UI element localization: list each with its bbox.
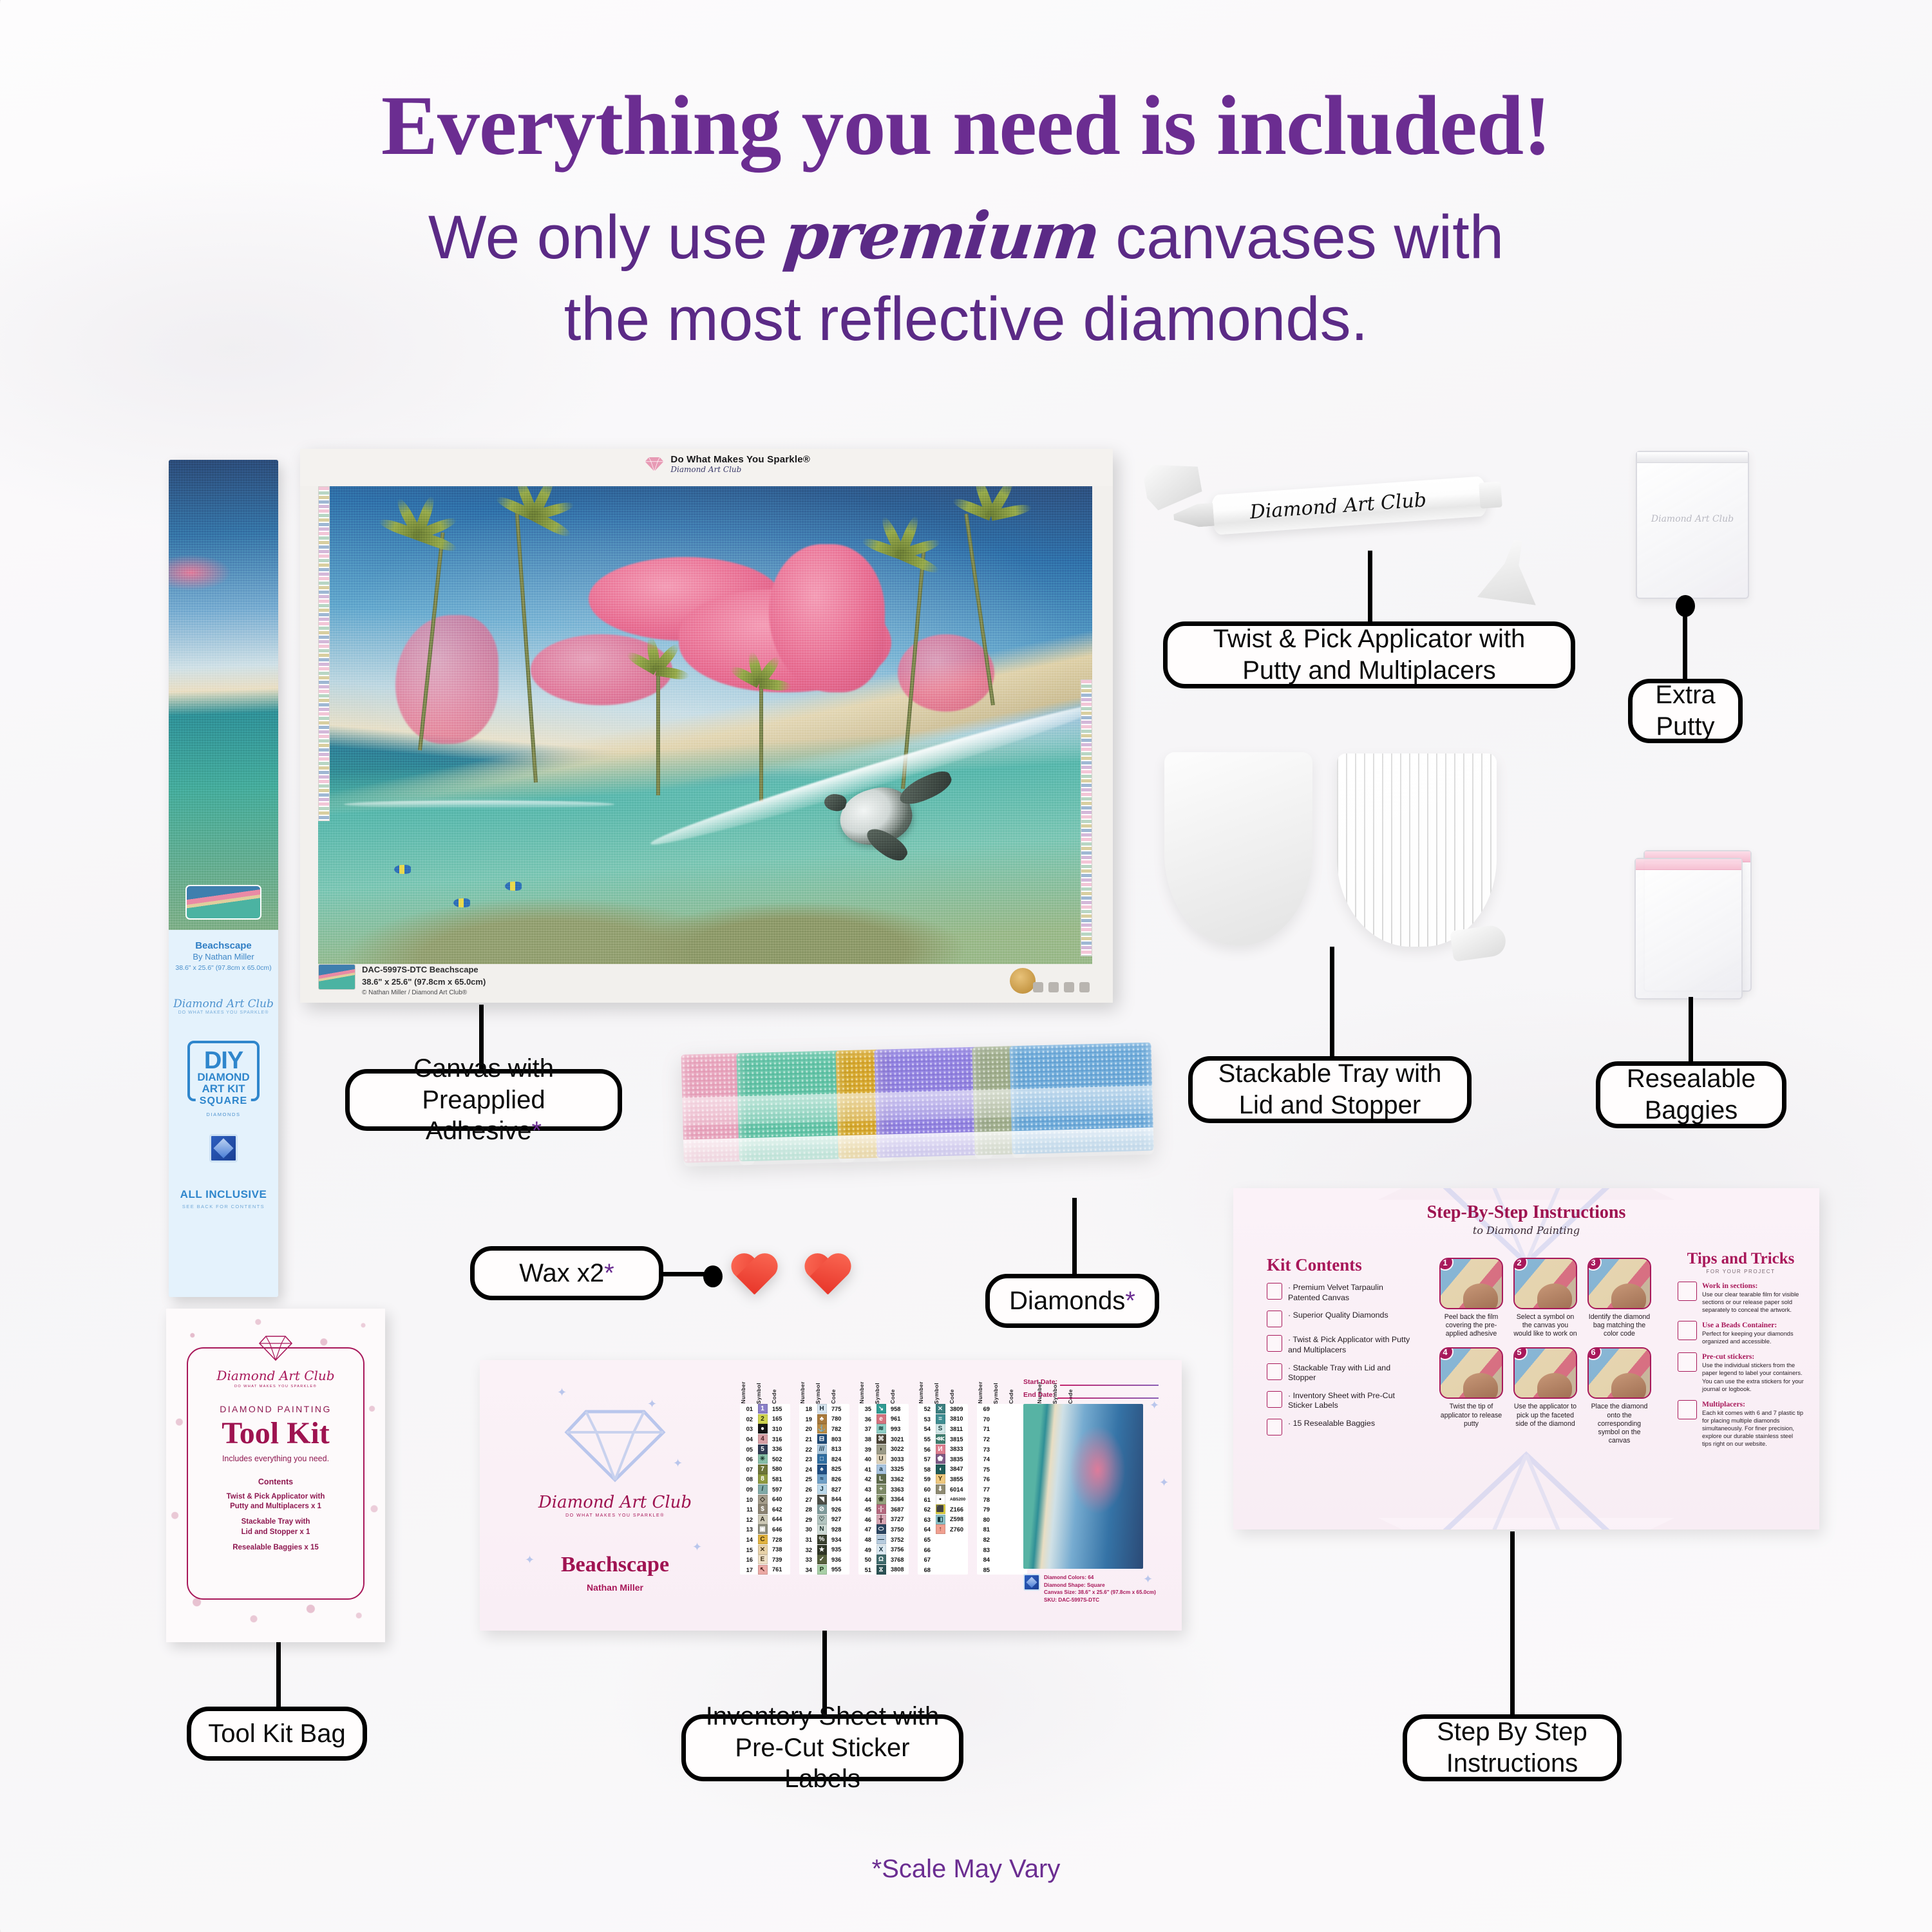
extra-putty-baggie[interactable]: Diamond Art Club: [1636, 451, 1749, 599]
column-header-number: Number: [799, 1381, 813, 1404]
canvas-footer-thumbnail: [318, 964, 355, 990]
cell-symbol: ⊟: [815, 1434, 829, 1444]
table-row: 51⧖3808: [858, 1565, 909, 1575]
table-row: 03●310: [740, 1424, 790, 1434]
asterisk-marker: *: [531, 1117, 542, 1145]
cell-number: 83: [977, 1546, 991, 1553]
cell-symbol: C: [755, 1535, 770, 1544]
cell-number: 76: [977, 1475, 991, 1482]
cell-number: 43: [858, 1486, 873, 1493]
table-row: 54S3811: [918, 1424, 968, 1434]
cell-number: 63: [918, 1516, 932, 1523]
callout-line-2: Pre-Cut Sticker Labels: [735, 1734, 909, 1794]
callout-stackable-tray[interactable]: Stackable Tray with Lid and Stopper: [1188, 1056, 1472, 1123]
fish: [453, 898, 470, 907]
step-caption: Place the diamond onto the corresponding…: [1587, 1403, 1651, 1445]
column-header-symbol: Symbol: [992, 1383, 1007, 1404]
cell-code: AB5200: [949, 1497, 968, 1502]
cell-code: 3809: [949, 1406, 968, 1412]
start-date-label: Start Date:: [1023, 1378, 1057, 1386]
cell-code: 761: [771, 1566, 790, 1573]
table-row: 37≋993: [858, 1424, 909, 1434]
table-row: 68: [918, 1565, 968, 1575]
cell-number: 29: [799, 1516, 813, 1523]
meta-diamond-shape: Diamond Shape: Square: [1044, 1582, 1156, 1589]
symbol-swatch: H: [817, 1404, 827, 1414]
column-header-symbol: Symbol: [874, 1383, 888, 1404]
table-row: 28⊘926: [799, 1504, 849, 1515]
sparkle-icon: ✦: [1159, 1476, 1169, 1490]
cell-number: 66: [918, 1546, 932, 1553]
inventory-brand-tagline: DO WHAT MAKES YOU SPARKLE®: [506, 1513, 724, 1518]
table-row: 33✓936: [799, 1555, 849, 1565]
social-icon: [1064, 982, 1074, 992]
cell-number: 84: [977, 1556, 991, 1563]
callout-diamonds-label: Diamonds*: [1009, 1285, 1135, 1317]
instruction-step: 2Select a symbol on the canvas you would…: [1513, 1258, 1577, 1338]
symbol-swatch: /: [758, 1484, 768, 1494]
cell-symbol: ⬭: [874, 1524, 888, 1534]
kit-content-item: · Inventory Sheet with Pre-Cut Sticker L…: [1267, 1391, 1415, 1411]
inventory-sheet-icon: [1267, 1391, 1282, 1408]
symbol-swatch: ◥: [817, 1495, 827, 1504]
callout-line-1: Resealable: [1627, 1065, 1756, 1093]
twist-pick-applicator[interactable]: Diamond Art Club: [1209, 476, 1488, 535]
canvas-artwork: [318, 486, 1092, 964]
cell-number: 41: [858, 1466, 873, 1473]
kit-content-label: · 15 Resealable Baggies: [1288, 1419, 1375, 1429]
leader-dot-wax: [703, 1265, 723, 1287]
see-back-label: SEE BACK FOR CONTENTS: [169, 1204, 278, 1209]
canvas-brand-header: Do What Makes You Sparkle® Diamond Art C…: [643, 454, 810, 474]
cell-code: 3022: [889, 1446, 909, 1452]
symbol-swatch: $: [758, 1504, 768, 1514]
cell-number: 49: [858, 1546, 873, 1553]
cell-symbol: 4: [755, 1434, 770, 1444]
instructions-subtitle: to Diamond Painting: [1233, 1224, 1819, 1236]
cell-code: 3768: [889, 1557, 909, 1563]
sparkle-icon: ✦: [692, 1540, 702, 1554]
table-row: 52⨯3809: [918, 1404, 968, 1414]
symbol-swatch: ❀: [876, 1495, 886, 1504]
sparkle-icon: ✦: [1150, 1399, 1159, 1412]
canvas-footer-text: DAC-5997S-DTC Beachscape 38.6" x 25.6" (…: [362, 964, 486, 998]
cell-code: 3756: [889, 1546, 909, 1553]
applicator-cap: [1141, 457, 1204, 512]
tips-subtitle: FOR YOUR PROJECT: [1678, 1269, 1804, 1274]
subtitle-script-word: premium: [780, 193, 1103, 278]
canvas-tube-package[interactable]: Beachscape By Nathan Miller 38.6" x 25.6…: [169, 460, 278, 1297]
cell-number: 26: [799, 1486, 813, 1493]
callout-tool-kit-bag[interactable]: Tool Kit Bag: [187, 1707, 367, 1761]
callout-line-2: Putty: [1656, 712, 1714, 741]
table-row: 17↖761: [740, 1565, 790, 1575]
cell-number: 12: [740, 1516, 754, 1523]
callout-line-1: Extra: [1655, 681, 1715, 709]
table-row: 088581: [740, 1474, 790, 1484]
cell-number: 46: [858, 1516, 873, 1523]
cell-code: 844: [830, 1496, 849, 1502]
cell-symbol: H: [815, 1404, 829, 1414]
cell-symbol: —: [874, 1535, 888, 1544]
end-date-field[interactable]: End Date:: [1023, 1391, 1159, 1399]
kit-content-label: · Inventory Sheet with Pre-Cut Sticker L…: [1288, 1391, 1415, 1411]
cell-code: 926: [830, 1506, 849, 1513]
symbol-swatch: ⌘: [876, 1434, 886, 1444]
cell-number: 85: [977, 1566, 991, 1573]
symbol-swatch: C: [758, 1535, 768, 1544]
cell-number: 77: [977, 1486, 991, 1493]
cell-code: 927: [830, 1516, 849, 1522]
cell-number: 35: [858, 1405, 873, 1412]
cell-symbol: ⚓: [815, 1424, 829, 1434]
diy-line-3: ART KIT: [193, 1083, 254, 1095]
leader-line-toolkit: [276, 1642, 281, 1707]
tip-heading: Pre-cut stickers:: [1702, 1352, 1804, 1361]
wax-heart[interactable]: [802, 1255, 853, 1301]
cell-number: 06: [740, 1455, 754, 1463]
multiplacer-tip: [1477, 536, 1544, 605]
callout-inventory-sheet[interactable]: Inventory Sheet with Pre-Cut Sticker Lab…: [681, 1714, 963, 1781]
symbol-swatch: 2: [758, 1414, 768, 1424]
symbol-swatch: 1: [758, 1404, 768, 1414]
symbol-swatch: e: [876, 1414, 886, 1424]
symbol-swatch: +: [876, 1484, 886, 1494]
cell-symbol: ♣: [815, 1414, 829, 1424]
cell-symbol: A: [755, 1515, 770, 1524]
cell-code: Z760: [949, 1526, 968, 1533]
table-row: 61▪AB5200: [918, 1494, 968, 1504]
palm-tree: [756, 679, 762, 802]
cell-number: 48: [858, 1536, 873, 1543]
cell-symbol: $: [755, 1504, 770, 1514]
column-header-number: Number: [740, 1381, 754, 1404]
cell-code: 782: [830, 1426, 849, 1432]
cell-code: 6014: [949, 1486, 968, 1493]
cell-symbol: 8: [755, 1474, 770, 1484]
start-date-line[interactable]: [1060, 1385, 1159, 1386]
cell-number: 81: [977, 1526, 991, 1533]
cell-code: 3033: [889, 1456, 909, 1463]
callout-diamonds[interactable]: Diamonds*: [985, 1274, 1159, 1328]
symbol-swatch: ⬟: [936, 1454, 945, 1464]
cell-code: 780: [830, 1416, 849, 1422]
callout-applicator[interactable]: Twist & Pick Applicator with Putty and M…: [1163, 621, 1575, 688]
cell-number: 62: [918, 1506, 932, 1513]
canvas-legend-right: [1081, 679, 1092, 956]
cell-number: 58: [918, 1466, 932, 1473]
symbol-swatch: ↑: [936, 1524, 945, 1534]
symbol-swatch: X: [876, 1545, 886, 1555]
diamond-bags-group[interactable]: [681, 1042, 1161, 1183]
table-row: 75: [977, 1464, 1027, 1475]
cell-number: 25: [799, 1475, 813, 1482]
table-row: 78: [977, 1494, 1027, 1504]
cell-number: 05: [740, 1446, 754, 1453]
canvas-legend-left: [318, 486, 330, 821]
cell-symbol: ✕: [755, 1545, 770, 1555]
table-row: 29♡927: [799, 1515, 849, 1525]
cell-symbol: E: [755, 1555, 770, 1564]
cell-number: 08: [740, 1475, 754, 1482]
inventory-artwork-photo: [1023, 1404, 1143, 1569]
diamond-icon: [257, 1334, 294, 1361]
page-subtitle: We only use premium canvases with the mo…: [0, 193, 1932, 360]
tip-item: Pre-cut stickers:Use the individual stic…: [1678, 1352, 1804, 1392]
callout-extra-putty[interactable]: Extra Putty: [1628, 679, 1743, 743]
table-row: 60⬇6014: [918, 1484, 968, 1495]
tip-item: Multiplacers:Each kit comes with 6 and 7…: [1678, 1400, 1804, 1448]
instruction-step: 1Peel back the film covering the pre-app…: [1439, 1258, 1503, 1338]
symbol-swatch: E: [758, 1555, 768, 1564]
diamond-bag: [1009, 1043, 1153, 1155]
symbol-swatch: ◇: [758, 1495, 768, 1504]
step-caption: Twist the tip of applicator to release p…: [1439, 1403, 1503, 1428]
inventory-rows: 6970717273747576777879808182838485: [977, 1404, 1027, 1575]
cell-symbol: 5: [755, 1444, 770, 1454]
table-row: 53=3810: [918, 1414, 968, 1425]
toolkit-content-line: Resealable Baggies x 15: [196, 1543, 355, 1553]
cell-number: 54: [918, 1425, 932, 1432]
table-row: 46╁3727: [858, 1515, 909, 1525]
cell-code: 827: [830, 1486, 849, 1493]
cell-number: 11: [740, 1506, 754, 1513]
cell-number: 21: [799, 1435, 813, 1443]
end-date-line[interactable]: [1057, 1397, 1159, 1399]
cell-symbol: U: [874, 1454, 888, 1464]
cell-symbol: +: [874, 1484, 888, 1494]
table-row: 38⌘3021: [858, 1434, 909, 1444]
cell-code: 646: [771, 1526, 790, 1533]
inventory-column-group: NumberSymbolCode35↘95836e96137≋99338⌘302…: [858, 1369, 909, 1575]
palm-tree: [898, 551, 904, 789]
baggie-icon: [1267, 1419, 1282, 1435]
callout-resealable-baggies[interactable]: Resealable Baggies: [1596, 1061, 1786, 1128]
callout-step-by-step[interactable]: Step By Step Instructions: [1403, 1714, 1622, 1781]
callout-line-2: Preapplied Adhesive: [422, 1086, 545, 1146]
table-row: 43+3363: [858, 1484, 909, 1495]
cell-code: 935: [830, 1546, 849, 1553]
sparkle-icon: ✦: [557, 1386, 567, 1399]
cell-symbol: ⨯: [933, 1404, 947, 1414]
leader-line-instructions: [1510, 1531, 1515, 1717]
symbol-swatch: Ω: [876, 1555, 886, 1564]
symbol-swatch: ↖: [758, 1565, 768, 1575]
cell-number: 57: [918, 1455, 932, 1463]
canvas-footer-copyright: © Nathan Miller / Diamond Art Club®: [362, 989, 486, 998]
cell-number: 18: [799, 1405, 813, 1412]
table-row: 58◖3847: [918, 1464, 968, 1475]
inventory-sheet[interactable]: Diamond Art Club DO WHAT MAKES YOU SPARK…: [480, 1360, 1182, 1631]
instructions-title: Step-By-Step Instructions: [1233, 1202, 1819, 1223]
table-row: 36e961: [858, 1414, 909, 1425]
table-row: 41a3325: [858, 1464, 909, 1475]
cell-code: 155: [771, 1406, 790, 1412]
inventory-column-headers: NumberSymbolCode: [799, 1369, 849, 1404]
cell-symbol: %: [815, 1535, 829, 1544]
cell-number: 59: [918, 1475, 932, 1482]
diamond-icon: [560, 1406, 670, 1484]
tube-thumbnail: [185, 885, 261, 920]
inventory-left-panel: Diamond Art Club DO WHAT MAKES YOU SPARK…: [506, 1383, 724, 1593]
table-row: 10◇640: [740, 1494, 790, 1504]
subtitle-part-1: We only use: [428, 203, 768, 272]
cell-number: 55: [918, 1435, 932, 1443]
wave-foam: [344, 800, 614, 808]
cell-number: 68: [918, 1566, 932, 1573]
cell-code: 581: [771, 1476, 790, 1482]
symbol-swatch: a: [876, 1464, 886, 1474]
symbol-swatch: ●: [758, 1424, 768, 1434]
symbol-swatch: ≋: [876, 1424, 886, 1434]
meta-canvas-size: Canvas Size: 38.6" x 25.6" (97.8cm x 65.…: [1044, 1589, 1156, 1596]
table-row: 06✳502: [740, 1454, 790, 1464]
table-row: 57⬟3835: [918, 1454, 968, 1464]
table-row: 70: [977, 1414, 1027, 1425]
cell-code: 775: [830, 1406, 849, 1412]
instruction-step: 4Twist the tip of applicator to release …: [1439, 1347, 1503, 1445]
callout-line-1: Step By Step: [1437, 1718, 1587, 1746]
cell-number: 47: [858, 1526, 873, 1533]
toolkit-eyebrow: DIAMOND PAINTING: [196, 1404, 355, 1414]
kit-content-label: · Stackable Tray with Lid and Stopper: [1288, 1363, 1415, 1383]
cell-symbol: ⋅|⋅: [874, 1504, 888, 1514]
cell-number: 51: [858, 1566, 873, 1573]
resealable-baggie[interactable]: [1634, 858, 1743, 999]
cell-number: 16: [740, 1556, 754, 1563]
table-row: 84: [977, 1555, 1027, 1565]
cell-number: 22: [799, 1446, 813, 1453]
sticker-icon: [1678, 1352, 1697, 1372]
cell-symbol: ▣: [755, 1524, 770, 1534]
table-row: 44❀3364: [858, 1494, 909, 1504]
multiplacer-icon: [1678, 1400, 1697, 1419]
table-row: 63◧Z598: [918, 1515, 968, 1525]
canvas-footer: DAC-5997S-DTC Beachscape 38.6" x 25.6" (…: [318, 964, 1027, 998]
symbol-swatch: N: [817, 1524, 827, 1534]
callout-wax-label: Wax x2*: [519, 1258, 614, 1289]
tray-stopper: [1450, 923, 1508, 961]
stackable-tray-lid[interactable]: [1164, 752, 1312, 945]
cell-code: 738: [771, 1546, 790, 1553]
stackable-tray-body[interactable]: [1337, 753, 1497, 947]
cell-code: 644: [771, 1516, 790, 1522]
main-canvas[interactable]: Do What Makes You Sparkle® Diamond Art C…: [300, 449, 1113, 1003]
cell-number: 75: [977, 1466, 991, 1473]
cell-code: 813: [830, 1446, 849, 1452]
table-row: 40U3033: [858, 1454, 909, 1464]
callout-step-by-step-label: Step By Step Instructions: [1437, 1716, 1587, 1779]
cell-code: 3362: [889, 1476, 909, 1482]
cell-code: 642: [771, 1506, 790, 1513]
tube-brand-logo: Diamond Art Club: [169, 998, 278, 1010]
table-row: 66: [918, 1544, 968, 1555]
cell-code: 824: [830, 1456, 849, 1463]
table-row: 83: [977, 1544, 1027, 1555]
callout-canvas[interactable]: Canvas with Preapplied Adhesive*: [345, 1069, 622, 1131]
cell-symbol: ♠: [815, 1464, 829, 1474]
symbol-swatch: 4: [758, 1434, 768, 1444]
cell-number: 23: [799, 1455, 813, 1463]
tool-kit-bag[interactable]: Diamond Art Club DO WHAT MAKES YOU SPARK…: [166, 1309, 385, 1642]
table-row: 81: [977, 1524, 1027, 1535]
cell-symbol: ❀: [874, 1495, 888, 1504]
canvas-icon: [1267, 1283, 1282, 1300]
start-date-field[interactable]: Start Date:: [1023, 1378, 1159, 1386]
inventory-column-group: NumberSymbolCode01115502216503●310044316…: [740, 1369, 790, 1575]
cell-code: 336: [771, 1446, 790, 1452]
palm-tree: [988, 512, 994, 705]
symbol-swatch: ★: [817, 1545, 827, 1555]
kit-contents-heading: Kit Contents: [1267, 1255, 1415, 1275]
symbol-swatch: □: [817, 1454, 827, 1464]
step-by-step-instructions[interactable]: Step-By-Step Instructions to Diamond Pai…: [1233, 1188, 1819, 1529]
table-row: 14C728: [740, 1535, 790, 1545]
cell-number: 56: [918, 1446, 932, 1453]
cell-number: 36: [858, 1416, 873, 1423]
callout-line-1: Canvas with: [413, 1054, 554, 1083]
symbol-swatch: Y: [936, 1474, 945, 1484]
callout-wax[interactable]: Wax x2*: [470, 1246, 663, 1300]
kit-content-label: · Premium Velvet Tarpaulin Patented Canv…: [1288, 1283, 1415, 1303]
wax-heart[interactable]: [729, 1255, 779, 1301]
kit-content-label: · Twist & Pick Applicator with Putty and…: [1288, 1335, 1415, 1355]
baggie-brand-text: Diamond Art Club: [1651, 514, 1734, 524]
toolkit-tagline: Includes everything you need.: [196, 1454, 355, 1463]
callout-line-1: Inventory Sheet with: [706, 1702, 939, 1730]
quality-seal-icon: [1010, 968, 1036, 994]
table-row: 22///813: [799, 1444, 849, 1454]
symbol-swatch: ⚓: [817, 1424, 827, 1434]
table-row: 65: [918, 1535, 968, 1545]
instruction-step: 6Place the diamond onto the correspondin…: [1587, 1347, 1651, 1445]
social-icon: [1048, 982, 1059, 992]
symbol-swatch: %: [817, 1535, 827, 1544]
inventory-right-panel: Start Date: End Date: Diamond Colors: 64…: [1023, 1378, 1159, 1604]
symbol-swatch: ⋘: [936, 1434, 945, 1444]
table-row: 74: [977, 1454, 1027, 1464]
cell-number: 52: [918, 1405, 932, 1412]
instruction-step: 3Identify the diamond bag matching the c…: [1587, 1258, 1651, 1338]
table-row: 59Y3855: [918, 1474, 968, 1484]
kit-contents-column: Kit Contents · Premium Velvet Tarpaulin …: [1267, 1255, 1415, 1435]
symbol-swatch: P: [817, 1565, 827, 1575]
cell-symbol: ↖: [755, 1565, 770, 1575]
table-row: 20⚓782: [799, 1424, 849, 1434]
leader-line-diamonds: [1072, 1198, 1077, 1274]
cell-code: 640: [771, 1496, 790, 1502]
table-row: 24♠825: [799, 1464, 849, 1475]
diamonds-icon: [1267, 1311, 1282, 1327]
cell-symbol: 7: [755, 1464, 770, 1474]
table-row: 82: [977, 1535, 1027, 1545]
table-row: 16E739: [740, 1555, 790, 1565]
cell-code: 165: [771, 1416, 790, 1422]
symbol-swatch: ♠: [817, 1464, 827, 1474]
callout-line-1: Stackable Tray with: [1218, 1059, 1442, 1088]
beads-container-icon: [1678, 1321, 1697, 1340]
symbol-swatch: ⬇: [936, 1484, 945, 1494]
tip-body: Each kit comes with 6 and 7 plastic tip …: [1702, 1409, 1804, 1448]
canvas-footer-size: 38.6" x 25.6" (97.8cm x 65.0cm): [362, 976, 486, 989]
cell-number: 31: [799, 1536, 813, 1543]
table-row: 73: [977, 1444, 1027, 1454]
cell-number: 82: [977, 1536, 991, 1543]
cell-code: 580: [771, 1466, 790, 1472]
table-row: 48—3752: [858, 1535, 909, 1545]
step-caption: Identify the diamond bag matching the co…: [1587, 1313, 1651, 1338]
cell-symbol: ≈: [815, 1474, 829, 1484]
